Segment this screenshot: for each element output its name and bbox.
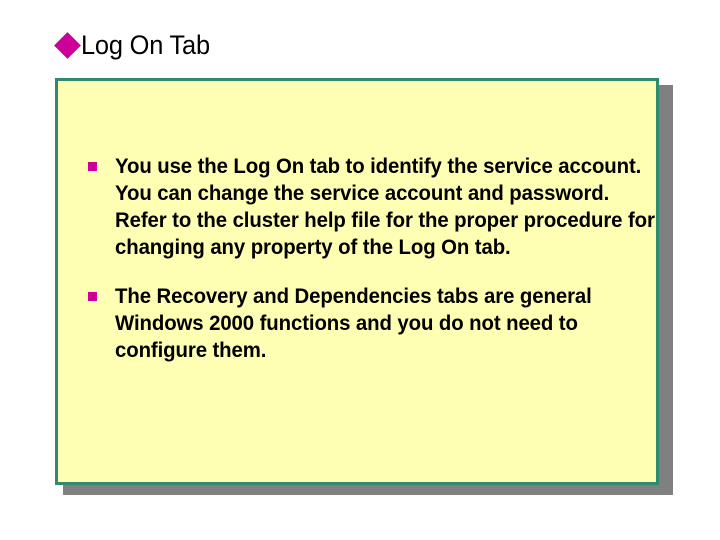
- slide-title-row: Log On Tab: [58, 26, 218, 64]
- diamond-bullet-icon: [54, 32, 81, 59]
- list-item-text: The Recovery and Dependencies tabs are g…: [115, 283, 658, 364]
- square-bullet-icon: [88, 292, 97, 301]
- page-title: Log On Tab: [81, 30, 210, 60]
- list-item: The Recovery and Dependencies tabs are g…: [88, 283, 698, 364]
- content-box: You use the Log On tab to identify the s…: [55, 78, 659, 485]
- bullet-list: You use the Log On tab to identify the s…: [88, 153, 698, 386]
- list-item-text: You use the Log On tab to identify the s…: [115, 153, 658, 261]
- presentation-slide: Log On Tab You use the Log On tab to ide…: [0, 0, 720, 540]
- list-item: You use the Log On tab to identify the s…: [88, 153, 698, 261]
- square-bullet-icon: [88, 162, 97, 171]
